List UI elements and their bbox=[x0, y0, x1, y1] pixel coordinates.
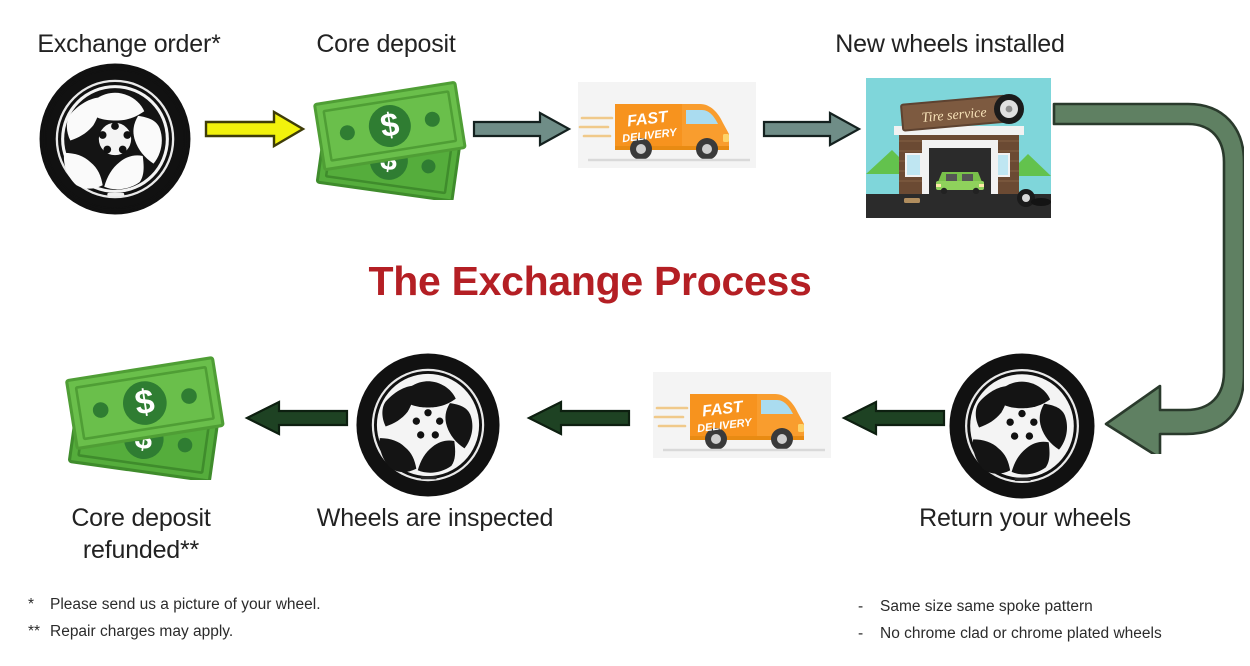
cash-icon: $ $ bbox=[307, 75, 473, 200]
footnote-mark: ** bbox=[28, 619, 50, 646]
cash-icon: $ $ bbox=[55, 350, 235, 480]
exchange-process-diagram: Exchange order* bbox=[0, 0, 1250, 666]
wheel-icon bbox=[38, 62, 192, 216]
footnote-item: -Same size same spoke pattern bbox=[858, 594, 1162, 621]
step-label-deposit-refunded: Core deposit refunded** bbox=[5, 502, 277, 566]
page-title: The Exchange Process bbox=[0, 258, 1180, 305]
footnotes-left: *Please send us a picture of your wheel.… bbox=[28, 592, 321, 645]
footnote-mark: * bbox=[28, 592, 50, 619]
footnote-item: -No chrome clad or chrome plated wheels bbox=[858, 621, 1162, 648]
footnote-text: Repair charges may apply. bbox=[50, 623, 233, 640]
step-label-return-wheels: Return your wheels bbox=[880, 502, 1170, 534]
arrow-deposit-to-truck bbox=[472, 110, 572, 148]
footnote-text: Please send us a picture of your wheel. bbox=[50, 596, 321, 613]
footnote-text: Same size same spoke pattern bbox=[880, 598, 1093, 615]
arrow-return-to-truck bbox=[840, 398, 946, 438]
delivery-truck-icon: FAST DELIVERY bbox=[653, 372, 831, 458]
arrow-inspect-to-refund bbox=[243, 398, 349, 438]
arrow-truck-to-shop bbox=[762, 110, 862, 148]
tire-service-shop-icon: Tire service bbox=[866, 78, 1051, 218]
footnote-item: *Please send us a picture of your wheel. bbox=[28, 592, 321, 619]
step-label-exchange-order: Exchange order* bbox=[0, 28, 258, 60]
footnote-mark: - bbox=[858, 594, 880, 621]
step-label-new-wheels: New wheels installed bbox=[790, 28, 1110, 60]
step-label-wheels-inspected: Wheels are inspected bbox=[290, 502, 580, 534]
footnote-item: **Repair charges may apply. bbox=[28, 619, 321, 646]
wheel-icon bbox=[355, 352, 501, 498]
footnote-text: No chrome clad or chrome plated wheels bbox=[880, 625, 1162, 642]
wheel-icon bbox=[948, 352, 1096, 500]
arrow-order-to-deposit bbox=[204, 108, 306, 150]
step-label-core-deposit: Core deposit bbox=[250, 28, 522, 60]
footnote-mark: - bbox=[858, 621, 880, 648]
footnotes-right: -Same size same spoke pattern -No chrome… bbox=[858, 594, 1162, 647]
arrow-truck-to-inspect bbox=[525, 398, 631, 438]
delivery-truck-icon: FAST DELIVERY bbox=[578, 82, 756, 168]
